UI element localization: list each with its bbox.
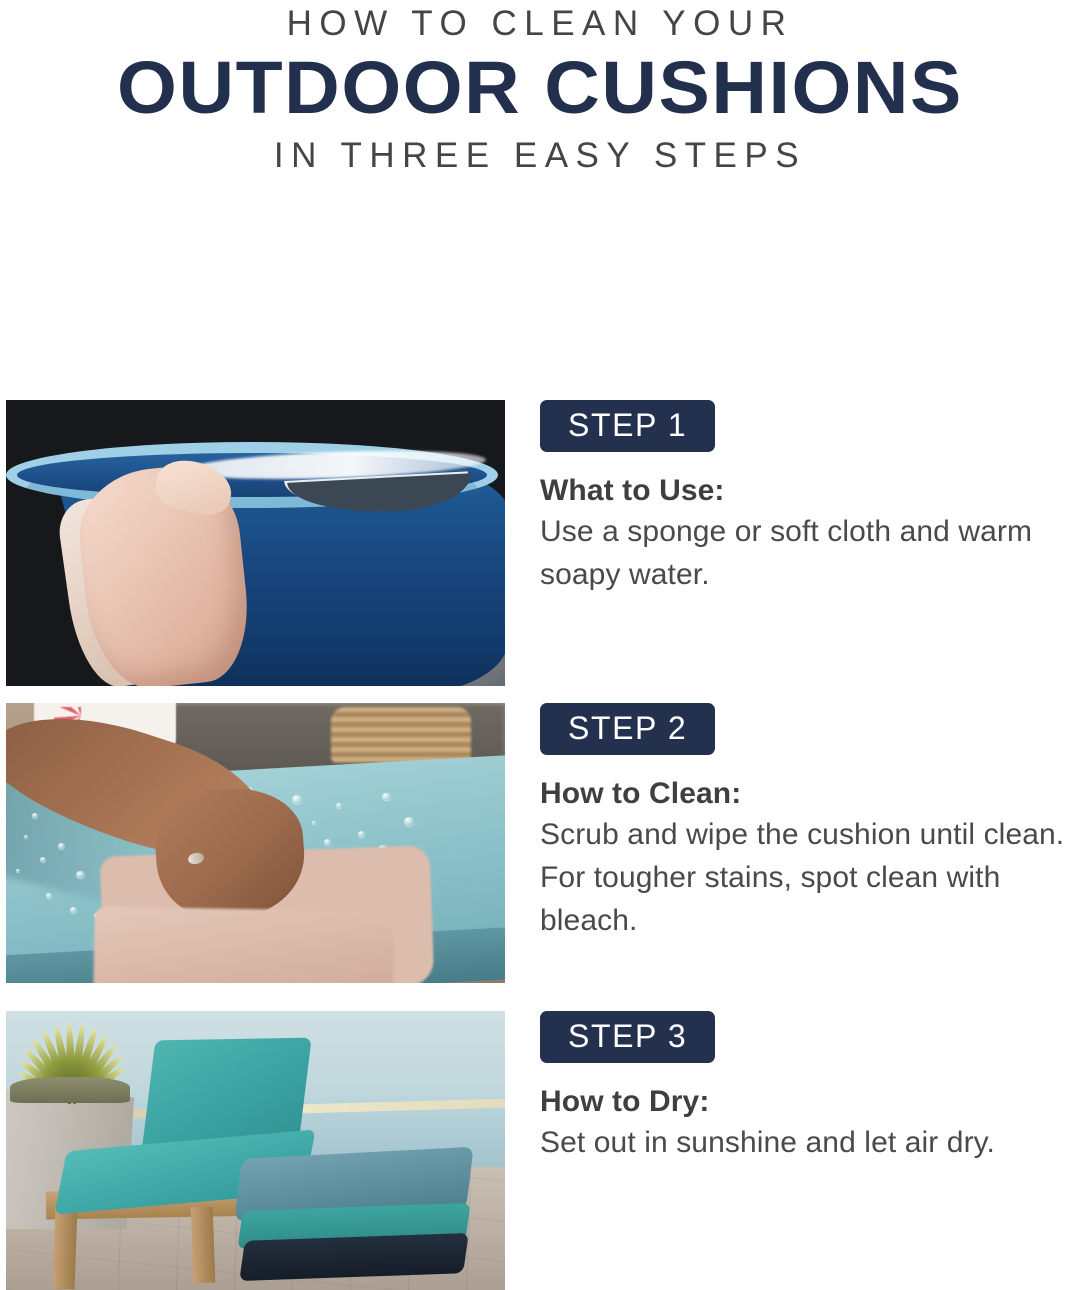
step-2-photo <box>6 703 505 983</box>
header-eyebrow: HOW TO CLEAN YOUR <box>0 2 1080 46</box>
lounger-leg-back <box>191 1207 216 1284</box>
step-item: STEP 2 How to Clean: Scrub and wipe the … <box>0 703 1080 983</box>
cleaning-towel-fold <box>93 906 394 983</box>
planter-soil <box>10 1077 130 1103</box>
step-badge-1: STEP 1 <box>540 400 715 452</box>
page-title: OUTDOOR CUSHIONS <box>0 46 1080 130</box>
infographic-header: HOW TO CLEAN YOUR OUTDOOR CUSHIONS IN TH… <box>0 0 1080 178</box>
step-1-text: STEP 1 What to Use: Use a sponge or soft… <box>540 400 1080 596</box>
stacked-cushion-bottom <box>239 1233 469 1281</box>
step-1-body: Use a sponge or soft cloth and warm soap… <box>540 510 1080 596</box>
step-3-subhead: How to Dry: <box>540 1083 1080 1121</box>
step-3-body: Set out in sunshine and let air dry. <box>540 1121 1080 1164</box>
lounger-leg-front <box>53 1207 78 1290</box>
step-1-photo <box>6 400 505 686</box>
woven-basket <box>331 707 471 763</box>
step-badge-2: STEP 2 <box>540 703 715 755</box>
step-3-text: STEP 3 How to Dry: Set out in sunshine a… <box>540 1011 1080 1164</box>
header-subtitle: IN THREE EASY STEPS <box>0 134 1080 178</box>
step-2-body: Scrub and wipe the cushion until clean. … <box>540 813 1080 942</box>
step-item: STEP 1 What to Use: Use a sponge or soft… <box>0 400 1080 686</box>
step-1-subhead: What to Use: <box>540 472 1080 510</box>
step-badge-3: STEP 3 <box>540 1011 715 1063</box>
step-2-text: STEP 2 How to Clean: Scrub and wipe the … <box>540 703 1080 942</box>
step-3-photo <box>6 1011 505 1290</box>
step-item: STEP 3 How to Dry: Set out in sunshine a… <box>0 1011 1080 1290</box>
step-2-subhead: How to Clean: <box>540 775 1080 813</box>
